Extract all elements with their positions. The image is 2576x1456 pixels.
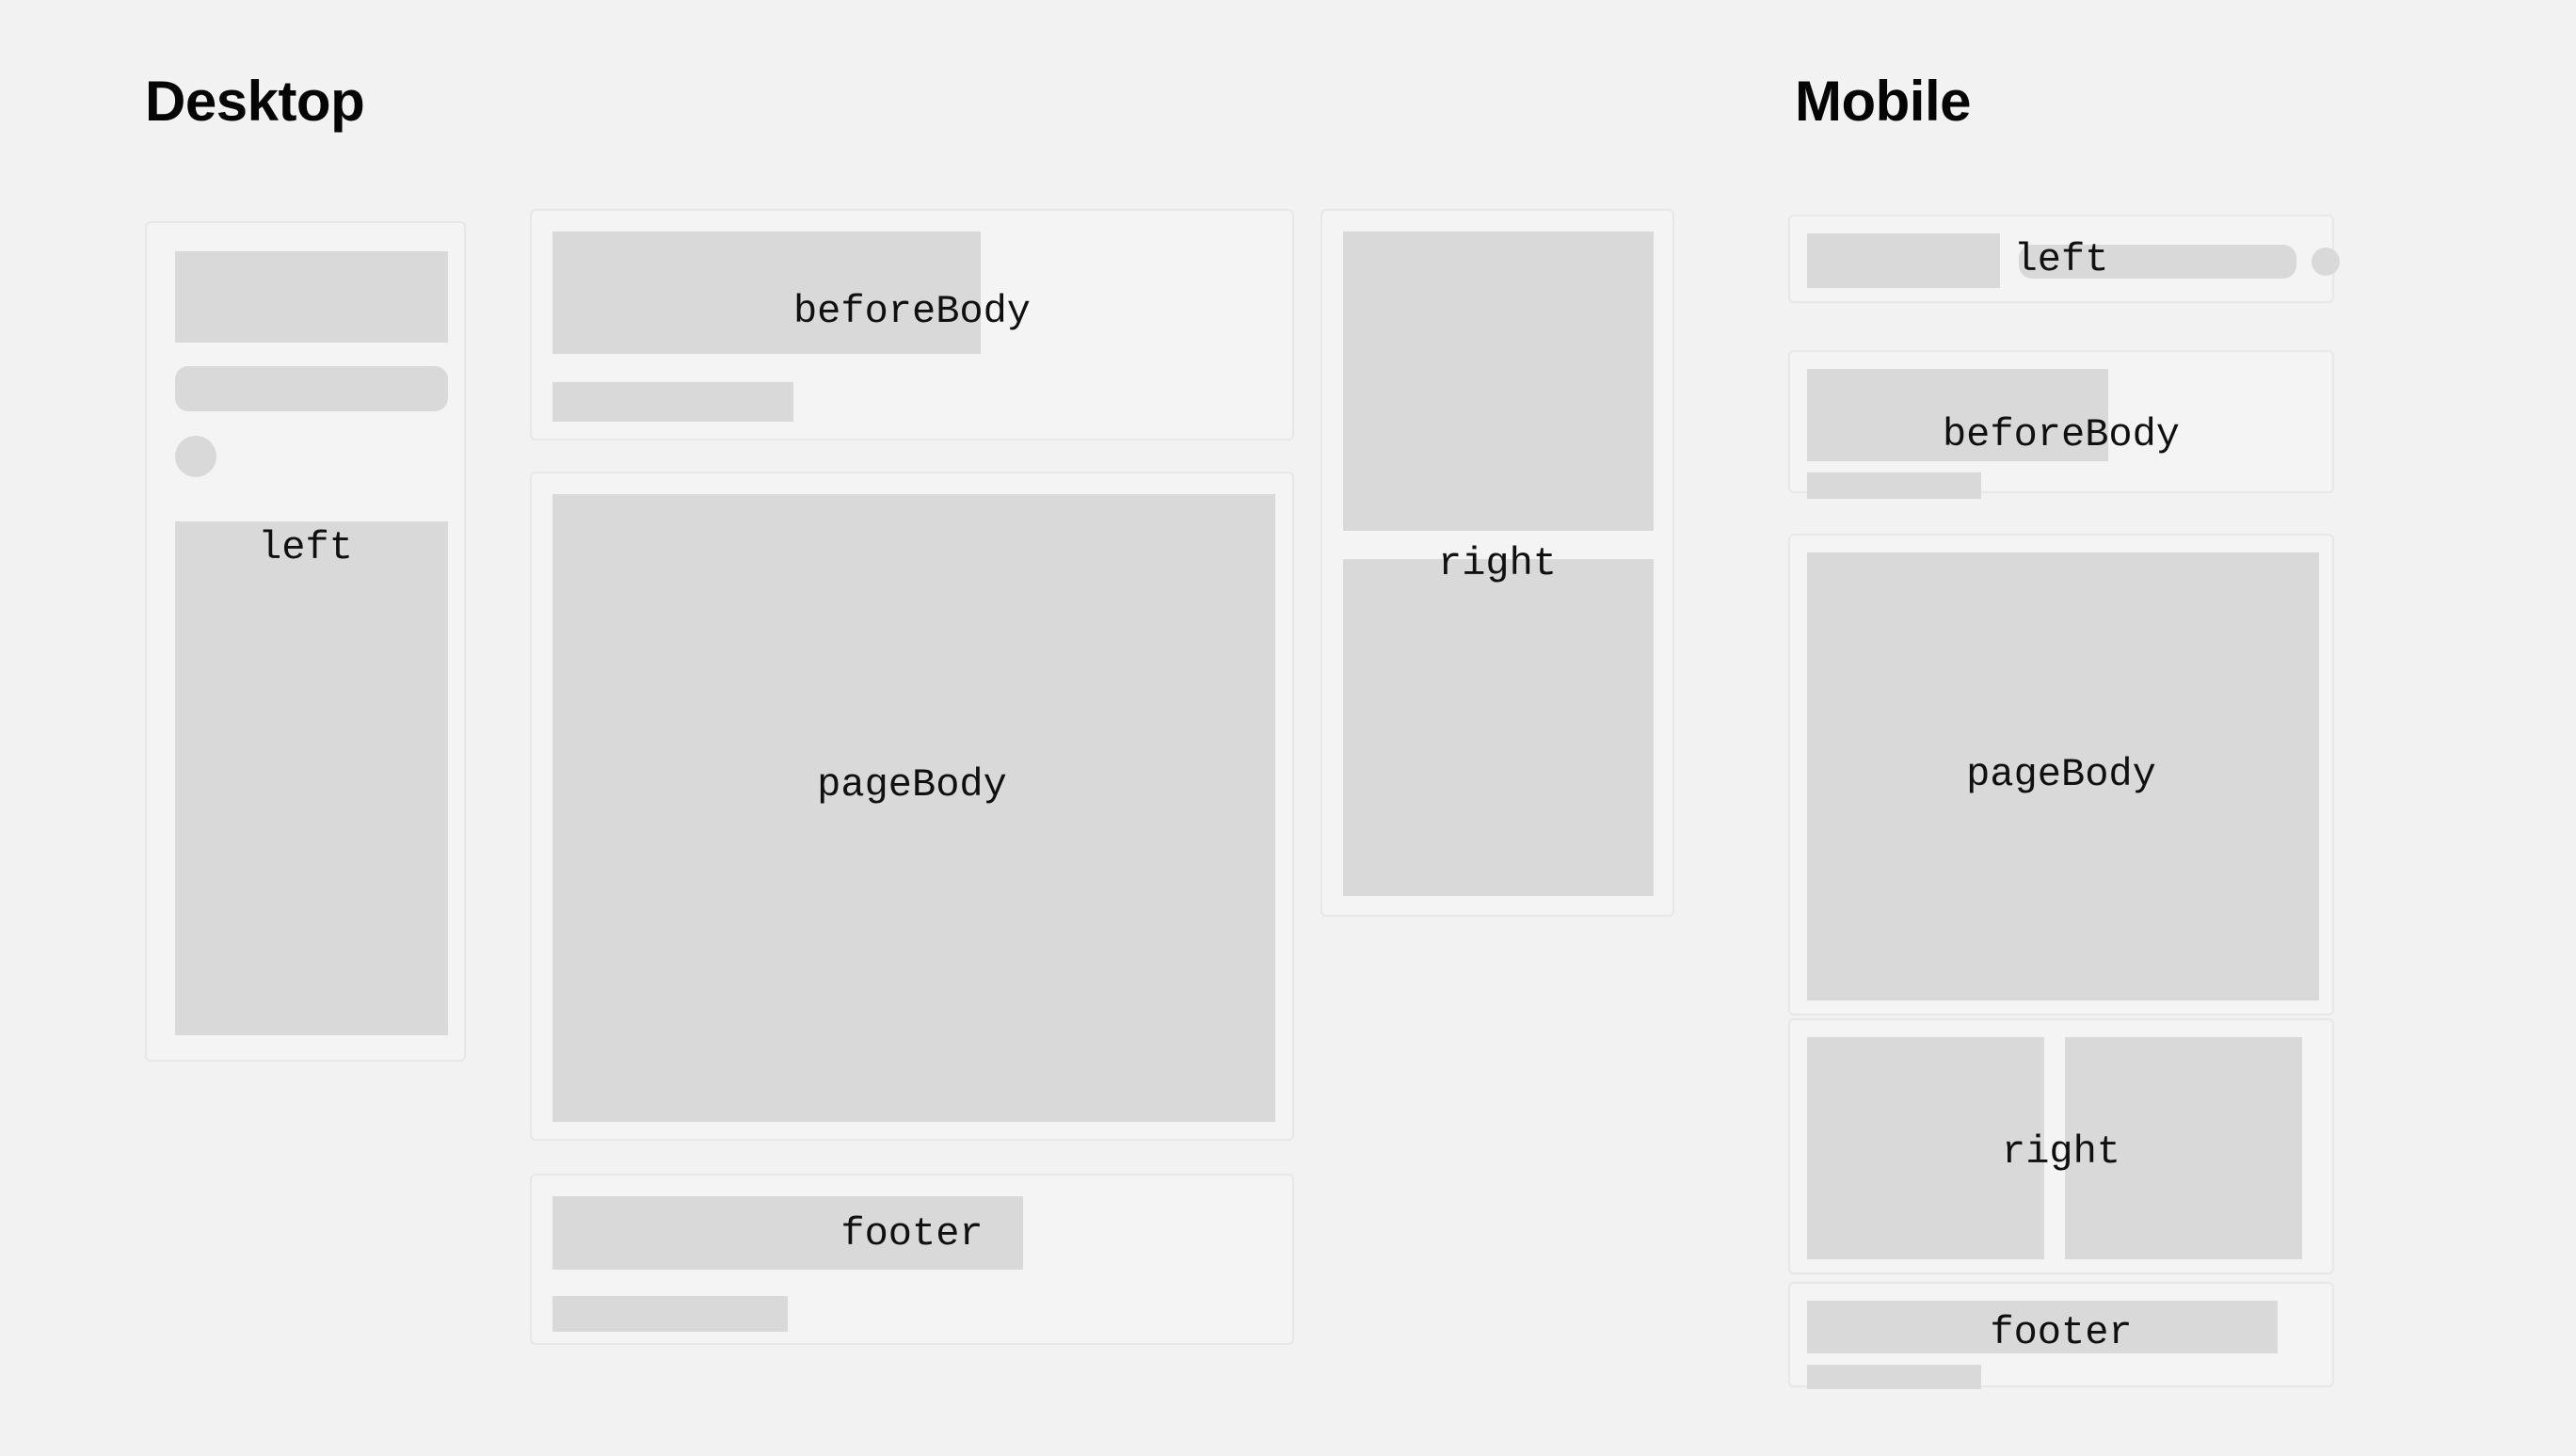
placeholder-block [1807, 552, 2319, 1000]
placeholder-block [1343, 559, 1654, 896]
desktop-left-slot-card[interactable] [145, 221, 466, 1062]
placeholder-block [1807, 1037, 2044, 1259]
placeholder-pill [2019, 245, 2296, 279]
placeholder-block [552, 1196, 1023, 1270]
placeholder-block [1807, 1365, 1981, 1389]
placeholder-block [1807, 1301, 2278, 1353]
desktop-beforebody-slot-card[interactable] [530, 209, 1294, 440]
placeholder-block [552, 382, 793, 422]
mobile-right-slot-card[interactable] [1788, 1018, 2334, 1274]
placeholder-block [175, 251, 448, 343]
placeholder-block [552, 494, 1275, 1122]
mobile-left-slot-card[interactable] [1788, 215, 2334, 303]
placeholder-avatar-circle [175, 436, 216, 477]
placeholder-block [2065, 1037, 2302, 1259]
mobile-section-title: Mobile [1795, 73, 1971, 130]
desktop-right-slot-card[interactable] [1320, 209, 1674, 917]
wireframe-canvas: Desktop left beforeBody pageBody right f… [0, 0, 2576, 1456]
mobile-footer-slot-card[interactable] [1788, 1282, 2334, 1387]
placeholder-block [552, 232, 981, 354]
placeholder-block [552, 1296, 788, 1332]
placeholder-block [1807, 233, 2000, 288]
placeholder-block [175, 521, 448, 1035]
desktop-section-title: Desktop [145, 73, 364, 130]
placeholder-avatar-circle [2312, 248, 2340, 276]
desktop-pagebody-slot-card[interactable] [530, 472, 1294, 1141]
placeholder-block [1343, 232, 1654, 531]
placeholder-block [1807, 472, 1981, 499]
placeholder-block [1807, 369, 2108, 461]
placeholder-pill [175, 366, 448, 411]
mobile-pagebody-slot-card[interactable] [1788, 534, 2334, 1016]
mobile-beforebody-slot-card[interactable] [1788, 350, 2334, 493]
desktop-footer-slot-card[interactable] [530, 1174, 1294, 1345]
